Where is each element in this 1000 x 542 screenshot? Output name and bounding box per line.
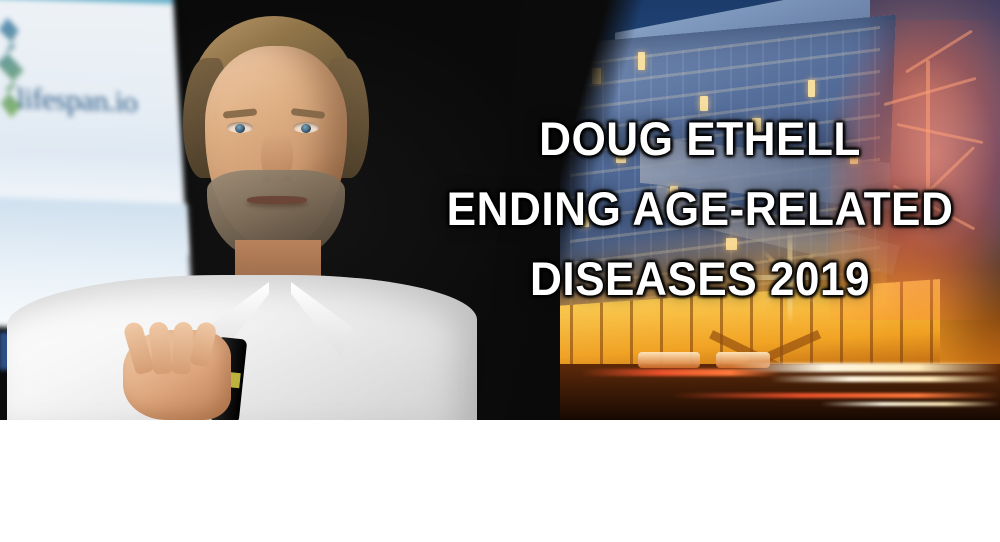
lit-window bbox=[808, 80, 815, 97]
speaker-eye-left bbox=[227, 122, 253, 133]
light-trail bbox=[770, 376, 1000, 382]
speaker-eye-right bbox=[293, 122, 319, 133]
light-trail bbox=[820, 402, 1000, 406]
light-trail bbox=[670, 393, 1000, 398]
thumbnail-title: DOUG ETHELL ENDING AGE-RELATED DISEASES … bbox=[400, 104, 1000, 314]
speaker-portrait bbox=[95, 0, 425, 420]
title-line-2: ENDING AGE-RELATED bbox=[418, 174, 982, 244]
footer-logo-bar: lifespan.io bbox=[0, 420, 1000, 542]
title-line-1: DOUG ETHELL bbox=[418, 104, 982, 174]
video-thumbnail: lifespan.io bbox=[0, 0, 1000, 542]
thumbnail-photo: lifespan.io bbox=[0, 0, 1000, 420]
speaker-mouth bbox=[247, 196, 307, 204]
car bbox=[638, 352, 700, 368]
speaker-hand bbox=[123, 330, 231, 420]
title-line-3: DISEASES 2019 bbox=[418, 244, 982, 314]
